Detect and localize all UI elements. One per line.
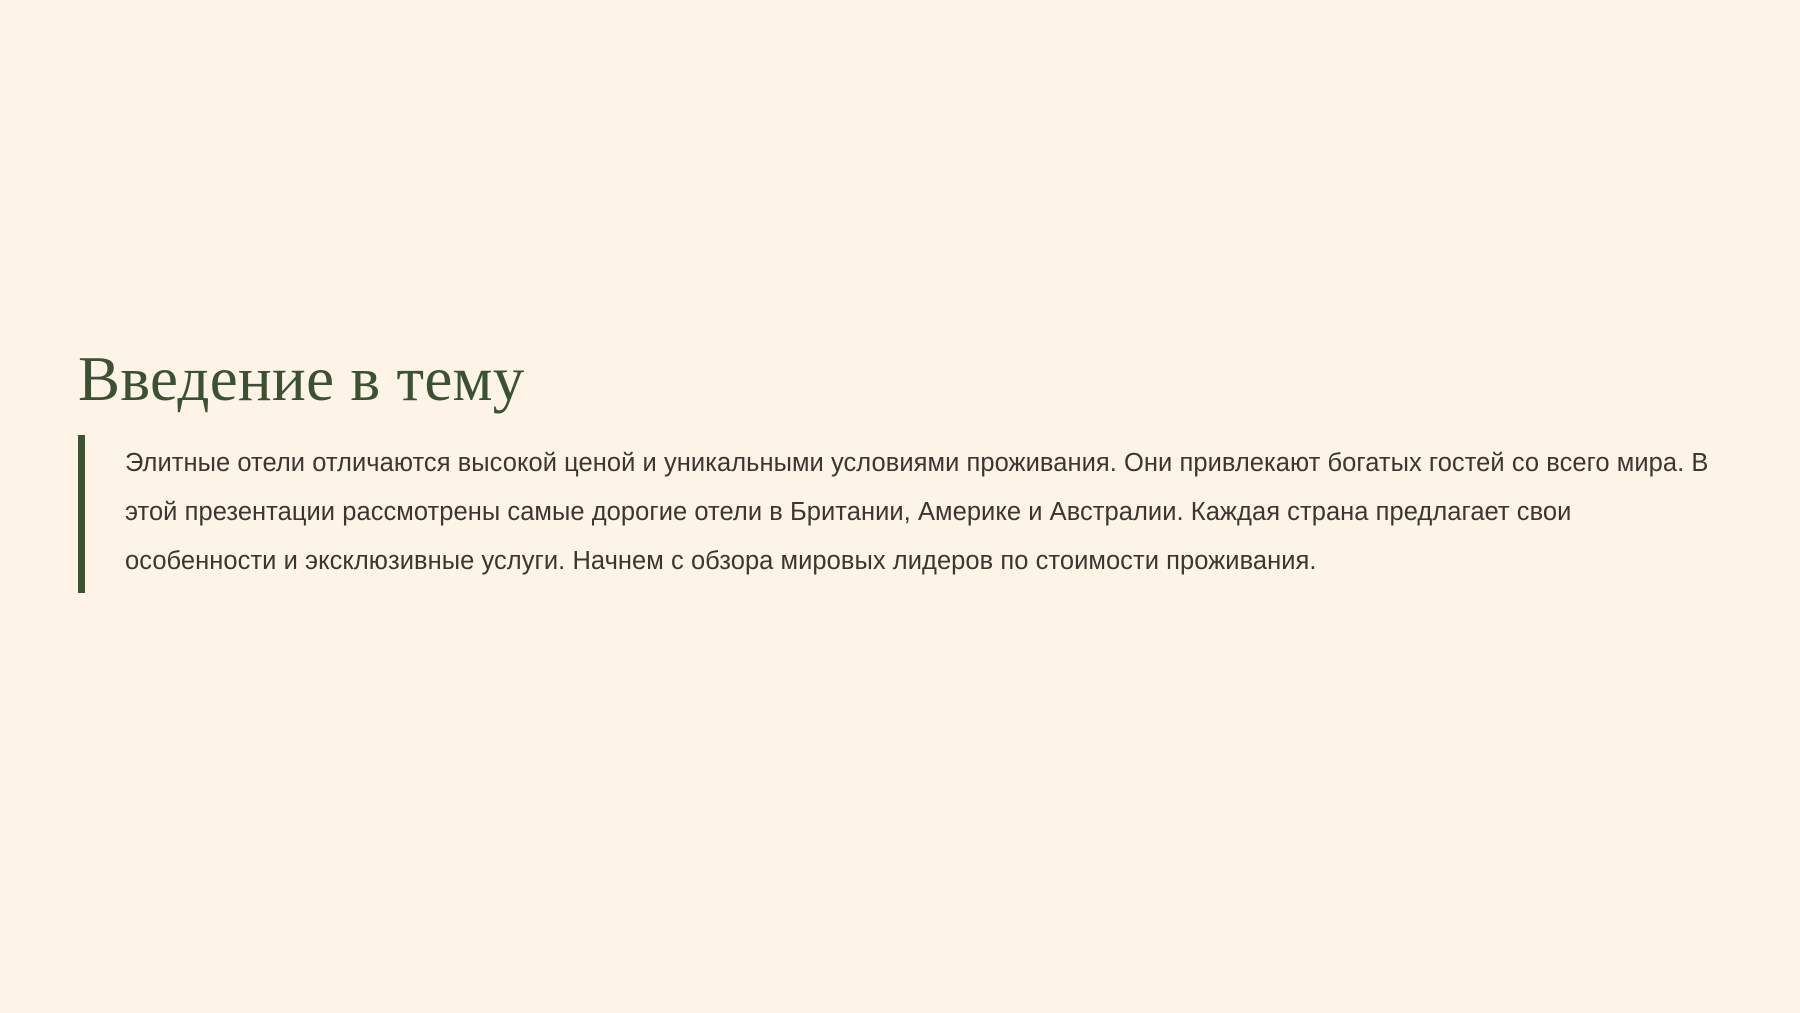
quote-block: Элитные отели отличаются высокой ценой и…: [78, 435, 1718, 593]
intro-paragraph: Элитные отели отличаются высокой ценой и…: [85, 435, 1715, 593]
accent-bar: [78, 435, 85, 593]
slide-canvas: Введение в тему Элитные отели отличаются…: [0, 0, 1800, 1013]
slide-content: Введение в тему Элитные отели отличаются…: [78, 345, 1718, 593]
page-title: Введение в тему: [78, 345, 1718, 413]
